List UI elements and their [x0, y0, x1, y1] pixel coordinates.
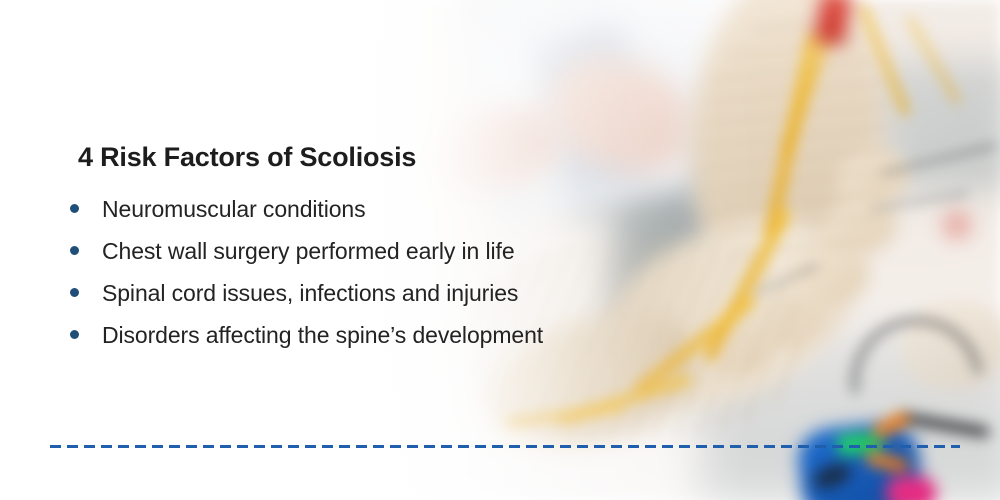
- dashed-divider: [50, 445, 960, 448]
- list-item: Spinal cord issues, infections and injur…: [70, 280, 543, 322]
- infographic-slide: 4 Risk Factors of Scoliosis Neuromuscula…: [0, 0, 1000, 500]
- list-item-label: Chest wall surgery performed early in li…: [102, 238, 515, 265]
- bullet-dot-icon: [70, 246, 79, 255]
- list-item: Chest wall surgery performed early in li…: [70, 238, 543, 280]
- list-item-label: Neuromuscular conditions: [102, 196, 366, 223]
- risk-factor-list: Neuromuscular conditions Chest wall surg…: [70, 196, 543, 364]
- bullet-dot-icon: [70, 330, 79, 339]
- list-item-label: Spinal cord issues, infections and injur…: [102, 280, 518, 307]
- list-item-label: Disorders affecting the spine’s developm…: [102, 322, 543, 349]
- page-title: 4 Risk Factors of Scoliosis: [78, 142, 416, 173]
- list-item: Disorders affecting the spine’s developm…: [70, 322, 543, 364]
- list-item: Neuromuscular conditions: [70, 196, 543, 238]
- slide-content: 4 Risk Factors of Scoliosis Neuromuscula…: [0, 0, 1000, 500]
- bullet-dot-icon: [70, 204, 79, 213]
- bullet-dot-icon: [70, 288, 79, 297]
